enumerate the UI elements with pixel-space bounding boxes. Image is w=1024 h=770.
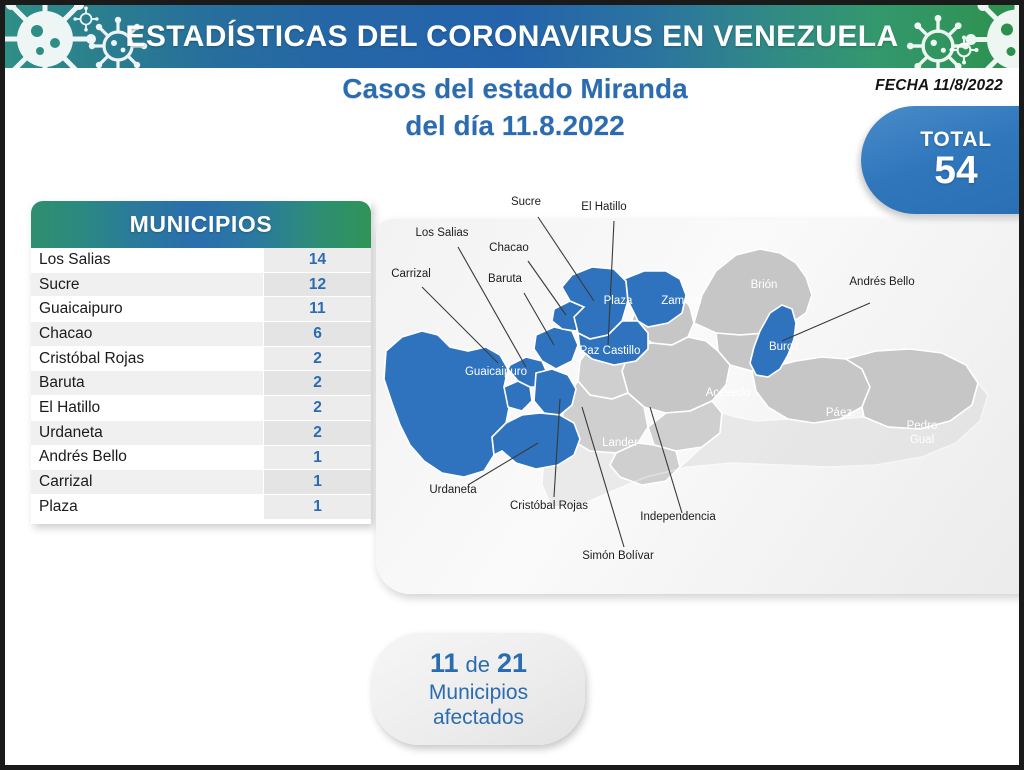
- map-label-region: Brión: [751, 279, 778, 291]
- map-label-region: Acevedo: [706, 387, 751, 399]
- map-label-leader: Chacao: [489, 242, 529, 254]
- municipality-count: 6: [263, 322, 371, 346]
- table-row: Cristóbal Rojas2: [31, 347, 371, 372]
- map-label-region: Lander: [602, 437, 638, 449]
- table-row: Plaza1: [31, 495, 371, 520]
- table-row: Baruta2: [31, 371, 371, 396]
- table-body: Los Salias14Sucre12Guaicaipuro11Chacao6C…: [31, 248, 371, 524]
- map-label-leader: Sucre: [511, 196, 541, 208]
- miranda-state-map: .hl { fill:#2f72bd; stroke:#ffffff; stro…: [376, 155, 1024, 595]
- table-row: Los Salias14: [31, 248, 371, 273]
- map-label-region: Guaicaipuro: [465, 366, 527, 378]
- map-label-region: Páez: [826, 407, 852, 419]
- table-row: Andrés Bello1: [31, 446, 371, 471]
- map-label-region: Gual: [910, 434, 934, 446]
- table-row: Carrizal1: [31, 470, 371, 495]
- municipality-count: 12: [263, 273, 371, 297]
- municipality-name: Sucre: [31, 276, 263, 294]
- municipality-count: 2: [263, 371, 371, 395]
- map-label-leader: Cristóbal Rojas: [510, 500, 588, 512]
- map-label-leader: Andrés Bello: [849, 276, 914, 288]
- map-label-region: Pedro: [907, 420, 938, 432]
- map-label-region: Zamora: [661, 295, 701, 307]
- municipality-name: Carrizal: [31, 473, 263, 491]
- municipality-name: Cristóbal Rojas: [31, 350, 263, 368]
- municipality-name: Chacao: [31, 325, 263, 343]
- table-row: Urdaneta2: [31, 421, 371, 446]
- affected-line2: Municipios: [429, 680, 528, 706]
- map-label-leader: El Hatillo: [581, 201, 626, 213]
- map-label-region: Paz Castillo: [580, 345, 641, 357]
- municipality-count: 2: [263, 396, 371, 420]
- affected-count: 11: [430, 648, 459, 678]
- affected-line3: afectados: [433, 705, 524, 731]
- map-label-leader: Baruta: [488, 273, 522, 285]
- table-header: MUNICIPIOS: [31, 201, 371, 248]
- municipality-name: Baruta: [31, 374, 263, 392]
- municipios-table: MUNICIPIOS Los Salias14Sucre12Guaicaipur…: [31, 201, 371, 524]
- affected-total: 21: [497, 648, 527, 678]
- affected-municipalities-badge: 11 de 21 Municipios afectados: [372, 633, 585, 745]
- municipality-count: 1: [263, 446, 371, 470]
- municipality-count: 11: [263, 297, 371, 321]
- table-row: Sucre12: [31, 273, 371, 298]
- municipality-count: 2: [263, 347, 371, 371]
- total-badge: TOTAL 54: [861, 106, 1024, 214]
- affected-connector: de: [466, 652, 490, 677]
- municipality-name: El Hatillo: [31, 399, 263, 417]
- map-label-leader: Simón Bolívar: [582, 550, 654, 562]
- map-label-region: Buroz: [769, 341, 799, 353]
- municipality-count: 14: [263, 248, 371, 272]
- infographic-page: ESTADÍSTICAS DEL CORONAVIRUS EN VENEZUEL…: [0, 0, 1024, 770]
- fecha-label: FECHA 11/8/2022: [875, 77, 1003, 95]
- municipality-count: 1: [263, 470, 371, 494]
- map-label-leader: Urdaneta: [429, 484, 477, 496]
- municipality-count: 2: [263, 421, 371, 445]
- table-row: Guaicaipuro11: [31, 297, 371, 322]
- total-value: 54: [934, 151, 977, 192]
- map-label-leader: Carrizal: [391, 268, 431, 280]
- municipality-name: Andrés Bello: [31, 448, 263, 466]
- municipality-name: Urdaneta: [31, 424, 263, 442]
- page-title-line2: del día 11.8.2022: [255, 108, 775, 145]
- table-row: El Hatillo2: [31, 396, 371, 421]
- municipality-count: 1: [263, 495, 371, 519]
- municipality-name: Guaicaipuro: [31, 300, 263, 318]
- map-label-leader: Independencia: [640, 511, 716, 523]
- banner-title: ESTADÍSTICAS DEL CORONAVIRUS EN VENEZUEL…: [5, 5, 1019, 68]
- map-label-region: Plaza: [604, 295, 633, 307]
- municipality-name: Plaza: [31, 498, 263, 516]
- affected-ratio: 11 de 21: [430, 647, 527, 680]
- map-label-leader: Los Salias: [415, 227, 468, 239]
- page-title-line1: Casos del estado Miranda: [255, 71, 775, 108]
- page-title: Casos del estado Miranda del día 11.8.20…: [255, 71, 775, 145]
- municipality-name: Los Salias: [31, 251, 263, 269]
- table-row: Chacao6: [31, 322, 371, 347]
- header-banner: ESTADÍSTICAS DEL CORONAVIRUS EN VENEZUEL…: [5, 5, 1019, 68]
